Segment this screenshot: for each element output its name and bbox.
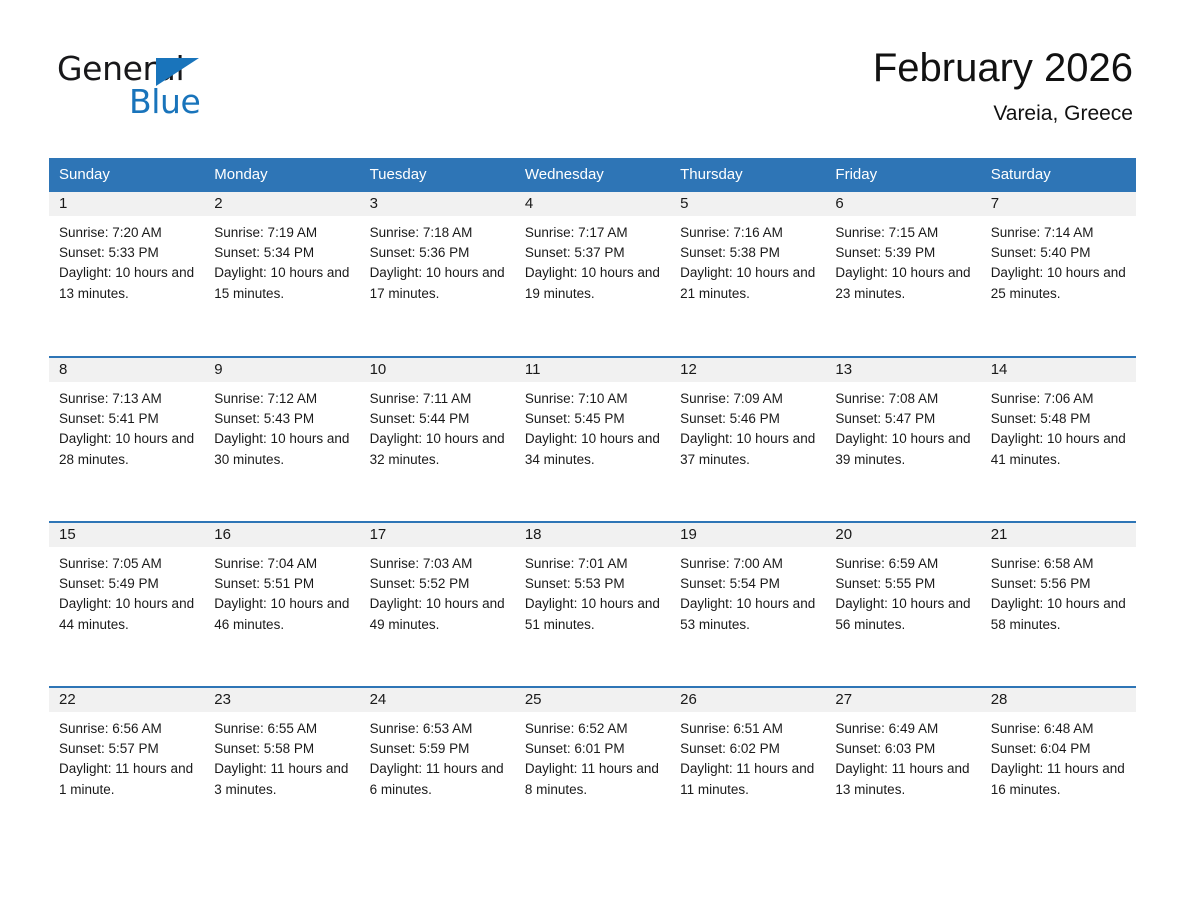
day-details: Sunrise: 7:20 AMSunset: 5:33 PMDaylight:… (49, 216, 204, 304)
sunrise-text: Sunrise: 7:15 AM (835, 223, 971, 243)
sunrise-text: Sunrise: 7:13 AM (59, 389, 195, 409)
day-details: Sunrise: 7:06 AMSunset: 5:48 PMDaylight:… (981, 382, 1136, 470)
day-number: 11 (515, 358, 670, 382)
sunset-text: Sunset: 5:53 PM (525, 574, 661, 594)
day-number: 16 (204, 523, 359, 547)
sunset-text: Sunset: 6:01 PM (525, 739, 661, 759)
day-details: Sunrise: 6:58 AMSunset: 5:56 PMDaylight:… (981, 547, 1136, 635)
sunset-text: Sunset: 5:49 PM (59, 574, 195, 594)
calendar-day-cell[interactable]: 25Sunrise: 6:52 AMSunset: 6:01 PMDayligh… (515, 687, 670, 852)
sunrise-text: Sunrise: 6:59 AM (835, 554, 971, 574)
sunrise-text: Sunrise: 7:08 AM (835, 389, 971, 409)
day-number: 10 (360, 358, 515, 382)
sunset-text: Sunset: 5:46 PM (680, 409, 816, 429)
calendar-day-cell[interactable]: 4Sunrise: 7:17 AMSunset: 5:37 PMDaylight… (515, 192, 670, 357)
calendar-day-cell[interactable]: 22Sunrise: 6:56 AMSunset: 5:57 PMDayligh… (49, 687, 204, 852)
day-details: Sunrise: 7:04 AMSunset: 5:51 PMDaylight:… (204, 547, 359, 635)
daylight-text: Daylight: 10 hours and 34 minutes. (525, 429, 661, 469)
calendar-page: General Blue February 2026 Vareia, Greec… (0, 0, 1188, 918)
sunset-text: Sunset: 5:57 PM (59, 739, 195, 759)
day-number: 17 (360, 523, 515, 547)
day-number: 8 (49, 358, 204, 382)
calendar-day-cell[interactable]: 11Sunrise: 7:10 AMSunset: 5:45 PMDayligh… (515, 357, 670, 522)
page-header: General Blue February 2026 Vareia, Greec… (0, 0, 1188, 118)
day-details: Sunrise: 6:53 AMSunset: 5:59 PMDaylight:… (360, 712, 515, 800)
daylight-text: Daylight: 10 hours and 30 minutes. (214, 429, 350, 469)
sunrise-text: Sunrise: 7:10 AM (525, 389, 661, 409)
day-details: Sunrise: 6:55 AMSunset: 5:58 PMDaylight:… (204, 712, 359, 800)
day-details: Sunrise: 6:51 AMSunset: 6:02 PMDaylight:… (670, 712, 825, 800)
calendar-day-cell[interactable]: 12Sunrise: 7:09 AMSunset: 5:46 PMDayligh… (670, 357, 825, 522)
daylight-text: Daylight: 10 hours and 17 minutes. (370, 263, 506, 303)
calendar-day-cell[interactable]: 1Sunrise: 7:20 AMSunset: 5:33 PMDaylight… (49, 192, 204, 357)
calendar-day-cell[interactable]: 7Sunrise: 7:14 AMSunset: 5:40 PMDaylight… (981, 192, 1136, 357)
daylight-text: Daylight: 10 hours and 39 minutes. (835, 429, 971, 469)
day-details: Sunrise: 7:00 AMSunset: 5:54 PMDaylight:… (670, 547, 825, 635)
calendar-day-cell[interactable]: 10Sunrise: 7:11 AMSunset: 5:44 PMDayligh… (360, 357, 515, 522)
daylight-text: Daylight: 11 hours and 13 minutes. (835, 759, 971, 799)
sunrise-text: Sunrise: 6:53 AM (370, 719, 506, 739)
daylight-text: Daylight: 10 hours and 51 minutes. (525, 594, 661, 634)
daylight-text: Daylight: 10 hours and 15 minutes. (214, 263, 350, 303)
daylight-text: Daylight: 11 hours and 11 minutes. (680, 759, 816, 799)
sunrise-text: Sunrise: 7:04 AM (214, 554, 350, 574)
calendar-day-cell[interactable]: 18Sunrise: 7:01 AMSunset: 5:53 PMDayligh… (515, 522, 670, 687)
calendar-day-cell[interactable]: 2Sunrise: 7:19 AMSunset: 5:34 PMDaylight… (204, 192, 359, 357)
day-number: 22 (49, 688, 204, 712)
calendar-day-cell[interactable]: 21Sunrise: 6:58 AMSunset: 5:56 PMDayligh… (981, 522, 1136, 687)
calendar-day-cell[interactable]: 27Sunrise: 6:49 AMSunset: 6:03 PMDayligh… (825, 687, 980, 852)
logo-text-blue: Blue (129, 85, 200, 118)
daylight-text: Daylight: 10 hours and 53 minutes. (680, 594, 816, 634)
sunset-text: Sunset: 5:40 PM (991, 243, 1127, 263)
sunrise-text: Sunrise: 7:06 AM (991, 389, 1127, 409)
sunrise-text: Sunrise: 7:18 AM (370, 223, 506, 243)
sunrise-text: Sunrise: 7:17 AM (525, 223, 661, 243)
day-number: 4 (515, 192, 670, 216)
calendar-day-cell[interactable]: 28Sunrise: 6:48 AMSunset: 6:04 PMDayligh… (981, 687, 1136, 852)
daylight-text: Daylight: 10 hours and 19 minutes. (525, 263, 661, 303)
sunset-text: Sunset: 5:39 PM (835, 243, 971, 263)
day-number: 6 (825, 192, 980, 216)
day-number: 20 (825, 523, 980, 547)
sunset-text: Sunset: 5:54 PM (680, 574, 816, 594)
day-number: 9 (204, 358, 359, 382)
daylight-text: Daylight: 10 hours and 32 minutes. (370, 429, 506, 469)
sunset-text: Sunset: 5:41 PM (59, 409, 195, 429)
sunset-text: Sunset: 5:56 PM (991, 574, 1127, 594)
daylight-text: Daylight: 10 hours and 28 minutes. (59, 429, 195, 469)
day-details: Sunrise: 6:59 AMSunset: 5:55 PMDaylight:… (825, 547, 980, 635)
day-number: 2 (204, 192, 359, 216)
day-number: 7 (981, 192, 1136, 216)
calendar-day-cell[interactable]: 3Sunrise: 7:18 AMSunset: 5:36 PMDaylight… (360, 192, 515, 357)
weekday-header-sunday: Sunday (49, 158, 204, 192)
weekday-header-friday: Friday (825, 158, 980, 192)
day-number: 19 (670, 523, 825, 547)
daylight-text: Daylight: 10 hours and 25 minutes. (991, 263, 1127, 303)
sunset-text: Sunset: 6:04 PM (991, 739, 1127, 759)
day-details: Sunrise: 7:15 AMSunset: 5:39 PMDaylight:… (825, 216, 980, 304)
sunrise-text: Sunrise: 7:11 AM (370, 389, 506, 409)
calendar-day-cell[interactable]: 9Sunrise: 7:12 AMSunset: 5:43 PMDaylight… (204, 357, 359, 522)
sunset-text: Sunset: 6:03 PM (835, 739, 971, 759)
day-number: 28 (981, 688, 1136, 712)
sunset-text: Sunset: 5:51 PM (214, 574, 350, 594)
sunrise-text: Sunrise: 7:19 AM (214, 223, 350, 243)
weekday-header-tuesday: Tuesday (360, 158, 515, 192)
day-details: Sunrise: 6:52 AMSunset: 6:01 PMDaylight:… (515, 712, 670, 800)
daylight-text: Daylight: 10 hours and 46 minutes. (214, 594, 350, 634)
day-number: 15 (49, 523, 204, 547)
sunrise-text: Sunrise: 7:14 AM (991, 223, 1127, 243)
calendar-day-cell[interactable]: 17Sunrise: 7:03 AMSunset: 5:52 PMDayligh… (360, 522, 515, 687)
day-details: Sunrise: 7:01 AMSunset: 5:53 PMDaylight:… (515, 547, 670, 635)
generalblue-logo[interactable]: General Blue (57, 52, 257, 122)
daylight-text: Daylight: 10 hours and 44 minutes. (59, 594, 195, 634)
day-number: 13 (825, 358, 980, 382)
sunrise-sunset-calendar: Sunday Monday Tuesday Wednesday Thursday… (49, 158, 1136, 852)
daylight-text: Daylight: 11 hours and 8 minutes. (525, 759, 661, 799)
weekday-header-wednesday: Wednesday (515, 158, 670, 192)
daylight-text: Daylight: 10 hours and 23 minutes. (835, 263, 971, 303)
sunset-text: Sunset: 5:37 PM (525, 243, 661, 263)
sunset-text: Sunset: 5:44 PM (370, 409, 506, 429)
title-block: February 2026 Vareia, Greece (873, 44, 1133, 126)
calendar-week-row: 1Sunrise: 7:20 AMSunset: 5:33 PMDaylight… (49, 192, 1136, 357)
daylight-text: Daylight: 10 hours and 41 minutes. (991, 429, 1127, 469)
day-number: 1 (49, 192, 204, 216)
page-subtitle: Vareia, Greece (873, 102, 1133, 126)
sunrise-text: Sunrise: 7:00 AM (680, 554, 816, 574)
daylight-text: Daylight: 10 hours and 56 minutes. (835, 594, 971, 634)
sunrise-text: Sunrise: 6:52 AM (525, 719, 661, 739)
daylight-text: Daylight: 10 hours and 21 minutes. (680, 263, 816, 303)
calendar-week-row: 8Sunrise: 7:13 AMSunset: 5:41 PMDaylight… (49, 357, 1136, 522)
sunrise-text: Sunrise: 7:05 AM (59, 554, 195, 574)
daylight-text: Daylight: 11 hours and 16 minutes. (991, 759, 1127, 799)
day-details: Sunrise: 7:11 AMSunset: 5:44 PMDaylight:… (360, 382, 515, 470)
day-number: 23 (204, 688, 359, 712)
sunset-text: Sunset: 6:02 PM (680, 739, 816, 759)
sunset-text: Sunset: 5:43 PM (214, 409, 350, 429)
day-details: Sunrise: 6:56 AMSunset: 5:57 PMDaylight:… (49, 712, 204, 800)
day-details: Sunrise: 7:16 AMSunset: 5:38 PMDaylight:… (670, 216, 825, 304)
day-number: 3 (360, 192, 515, 216)
day-details: Sunrise: 7:18 AMSunset: 5:36 PMDaylight:… (360, 216, 515, 304)
page-title: February 2026 (873, 44, 1133, 92)
calendar-day-cell[interactable]: 23Sunrise: 6:55 AMSunset: 5:58 PMDayligh… (204, 687, 359, 852)
calendar-day-cell[interactable]: 6Sunrise: 7:15 AMSunset: 5:39 PMDaylight… (825, 192, 980, 357)
calendar-day-cell[interactable]: 20Sunrise: 6:59 AMSunset: 5:55 PMDayligh… (825, 522, 980, 687)
daylight-text: Daylight: 11 hours and 1 minute. (59, 759, 195, 799)
calendar-day-cell[interactable]: 24Sunrise: 6:53 AMSunset: 5:59 PMDayligh… (360, 687, 515, 852)
day-number: 26 (670, 688, 825, 712)
daylight-text: Daylight: 11 hours and 6 minutes. (370, 759, 506, 799)
calendar-day-cell[interactable]: 15Sunrise: 7:05 AMSunset: 5:49 PMDayligh… (49, 522, 204, 687)
daylight-text: Daylight: 10 hours and 58 minutes. (991, 594, 1127, 634)
calendar-week-row: 22Sunrise: 6:56 AMSunset: 5:57 PMDayligh… (49, 687, 1136, 852)
day-number: 12 (670, 358, 825, 382)
weekday-header-monday: Monday (204, 158, 359, 192)
sunset-text: Sunset: 5:34 PM (214, 243, 350, 263)
day-details: Sunrise: 7:14 AMSunset: 5:40 PMDaylight:… (981, 216, 1136, 304)
sunrise-text: Sunrise: 6:55 AM (214, 719, 350, 739)
day-number: 5 (670, 192, 825, 216)
day-number: 27 (825, 688, 980, 712)
sunset-text: Sunset: 5:33 PM (59, 243, 195, 263)
weekday-header-saturday: Saturday (981, 158, 1136, 192)
day-details: Sunrise: 7:10 AMSunset: 5:45 PMDaylight:… (515, 382, 670, 470)
calendar-day-cell[interactable]: 13Sunrise: 7:08 AMSunset: 5:47 PMDayligh… (825, 357, 980, 522)
sunrise-text: Sunrise: 6:58 AM (991, 554, 1127, 574)
day-details: Sunrise: 7:08 AMSunset: 5:47 PMDaylight:… (825, 382, 980, 470)
sunrise-text: Sunrise: 7:12 AM (214, 389, 350, 409)
calendar-day-cell[interactable]: 5Sunrise: 7:16 AMSunset: 5:38 PMDaylight… (670, 192, 825, 357)
day-details: Sunrise: 7:17 AMSunset: 5:37 PMDaylight:… (515, 216, 670, 304)
daylight-text: Daylight: 10 hours and 13 minutes. (59, 263, 195, 303)
daylight-text: Daylight: 11 hours and 3 minutes. (214, 759, 350, 799)
sunrise-text: Sunrise: 6:48 AM (991, 719, 1127, 739)
day-details: Sunrise: 7:12 AMSunset: 5:43 PMDaylight:… (204, 382, 359, 470)
day-details: Sunrise: 7:19 AMSunset: 5:34 PMDaylight:… (204, 216, 359, 304)
day-number: 18 (515, 523, 670, 547)
day-number: 24 (360, 688, 515, 712)
daylight-text: Daylight: 10 hours and 37 minutes. (680, 429, 816, 469)
daylight-text: Daylight: 10 hours and 49 minutes. (370, 594, 506, 634)
sunset-text: Sunset: 5:55 PM (835, 574, 971, 594)
sunset-text: Sunset: 5:45 PM (525, 409, 661, 429)
sunrise-text: Sunrise: 7:09 AM (680, 389, 816, 409)
sunrise-text: Sunrise: 6:49 AM (835, 719, 971, 739)
sunrise-text: Sunrise: 6:51 AM (680, 719, 816, 739)
sunset-text: Sunset: 5:38 PM (680, 243, 816, 263)
day-details: Sunrise: 7:05 AMSunset: 5:49 PMDaylight:… (49, 547, 204, 635)
calendar-day-cell[interactable]: 8Sunrise: 7:13 AMSunset: 5:41 PMDaylight… (49, 357, 204, 522)
calendar-header-row: Sunday Monday Tuesday Wednesday Thursday… (49, 158, 1136, 192)
sunset-text: Sunset: 5:52 PM (370, 574, 506, 594)
day-number: 14 (981, 358, 1136, 382)
sunset-text: Sunset: 5:58 PM (214, 739, 350, 759)
day-details: Sunrise: 7:03 AMSunset: 5:52 PMDaylight:… (360, 547, 515, 635)
day-number: 25 (515, 688, 670, 712)
day-details: Sunrise: 7:13 AMSunset: 5:41 PMDaylight:… (49, 382, 204, 470)
day-number: 21 (981, 523, 1136, 547)
sunset-text: Sunset: 5:36 PM (370, 243, 506, 263)
day-details: Sunrise: 6:49 AMSunset: 6:03 PMDaylight:… (825, 712, 980, 800)
calendar-day-cell[interactable]: 14Sunrise: 7:06 AMSunset: 5:48 PMDayligh… (981, 357, 1136, 522)
weekday-header-thursday: Thursday (670, 158, 825, 192)
sunset-text: Sunset: 5:59 PM (370, 739, 506, 759)
calendar-week-row: 15Sunrise: 7:05 AMSunset: 5:49 PMDayligh… (49, 522, 1136, 687)
calendar-day-cell[interactable]: 16Sunrise: 7:04 AMSunset: 5:51 PMDayligh… (204, 522, 359, 687)
sunrise-text: Sunrise: 7:16 AM (680, 223, 816, 243)
day-details: Sunrise: 7:09 AMSunset: 5:46 PMDaylight:… (670, 382, 825, 470)
sunrise-text: Sunrise: 7:01 AM (525, 554, 661, 574)
sunset-text: Sunset: 5:48 PM (991, 409, 1127, 429)
sunrise-text: Sunrise: 7:20 AM (59, 223, 195, 243)
calendar-day-cell[interactable]: 19Sunrise: 7:00 AMSunset: 5:54 PMDayligh… (670, 522, 825, 687)
calendar-day-cell[interactable]: 26Sunrise: 6:51 AMSunset: 6:02 PMDayligh… (670, 687, 825, 852)
day-details: Sunrise: 6:48 AMSunset: 6:04 PMDaylight:… (981, 712, 1136, 800)
sunrise-text: Sunrise: 7:03 AM (370, 554, 506, 574)
sunset-text: Sunset: 5:47 PM (835, 409, 971, 429)
sunrise-text: Sunrise: 6:56 AM (59, 719, 195, 739)
calendar-body: 1Sunrise: 7:20 AMSunset: 5:33 PMDaylight… (49, 192, 1136, 852)
